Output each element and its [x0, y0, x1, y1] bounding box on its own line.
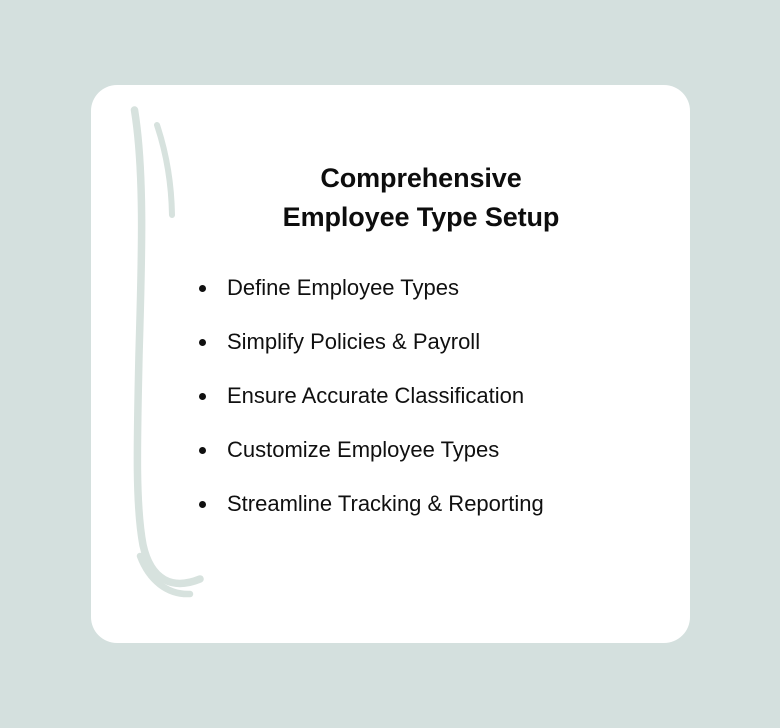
canvas: Comprehensive Employee Type Setup Define… — [0, 0, 780, 728]
list-item-label: Streamline Tracking & Reporting — [227, 490, 544, 518]
card-title: Comprehensive Employee Type Setup — [151, 159, 690, 237]
bullet-dot-icon — [199, 501, 206, 508]
list-item: Simplify Policies & Payroll — [199, 328, 669, 382]
content-card: Comprehensive Employee Type Setup Define… — [91, 85, 690, 643]
list-item: Ensure Accurate Classification — [199, 382, 669, 436]
list-item-label: Ensure Accurate Classification — [227, 382, 524, 410]
decor-line-lower-sweep — [140, 556, 190, 594]
list-item: Streamline Tracking & Reporting — [199, 490, 669, 544]
decor-line-tail — [135, 551, 179, 592]
list-item: Customize Employee Types — [199, 436, 669, 490]
list-item-label: Simplify Policies & Payroll — [227, 328, 480, 356]
list-item: Define Employee Types — [199, 274, 669, 328]
bullet-dot-icon — [199, 339, 206, 346]
feature-list: Define Employee Types Simplify Policies … — [199, 274, 669, 544]
bullet-dot-icon — [199, 285, 206, 292]
list-item-label: Customize Employee Types — [227, 436, 499, 464]
bullet-dot-icon — [199, 447, 206, 454]
list-item-label: Define Employee Types — [227, 274, 459, 302]
bullet-dot-icon — [199, 393, 206, 400]
card-title-line-2: Employee Type Setup — [151, 198, 690, 237]
card-title-line-1: Comprehensive — [151, 159, 690, 198]
